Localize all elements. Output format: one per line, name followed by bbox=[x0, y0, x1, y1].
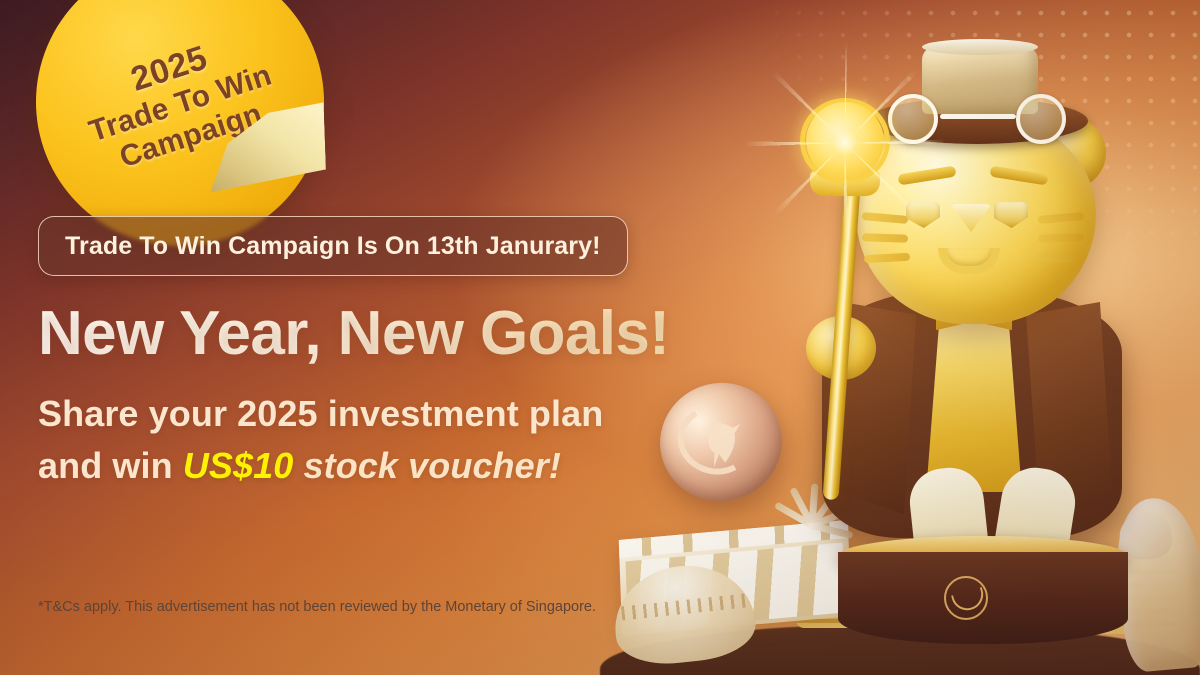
coin-stack-right-icon bbox=[1092, 548, 1178, 634]
mascot-ear-right bbox=[1028, 116, 1106, 190]
sparkle-icon bbox=[730, 28, 960, 258]
voucher-suffix: stock voucher! bbox=[293, 445, 561, 486]
mascot-whisker bbox=[1038, 212, 1085, 224]
scepter-cup bbox=[810, 170, 880, 196]
mascot-leg-right bbox=[990, 463, 1080, 581]
merlion-statue-icon bbox=[1113, 495, 1200, 673]
mascot-bow-tie-icon bbox=[936, 302, 1012, 334]
mascot-whisker bbox=[862, 212, 909, 224]
mascot-nose bbox=[950, 204, 992, 232]
mascot-head bbox=[856, 112, 1096, 324]
top-hat-brim-icon bbox=[866, 98, 1088, 144]
mascot-coat-lapel-left bbox=[830, 302, 916, 514]
voucher-amount: US$10 bbox=[183, 445, 294, 486]
mascot-coat bbox=[822, 288, 1122, 538]
mascot-coat-lapel-right bbox=[1026, 302, 1112, 514]
esplanade-landmark-icon bbox=[609, 559, 758, 669]
podium-body bbox=[838, 552, 1128, 644]
palm-tree-icon bbox=[770, 492, 862, 562]
halftone-dot-pattern-top-right bbox=[700, 0, 1200, 310]
mascot-eye-left bbox=[906, 202, 940, 228]
subheadline-line-2: and win US$10 stock voucher! bbox=[38, 440, 738, 491]
mascot-whisker bbox=[862, 233, 908, 243]
scepter-ring bbox=[800, 98, 890, 184]
disclaimer-text: *T&Cs apply. This advertisement has not … bbox=[38, 596, 608, 618]
scepter-orb bbox=[806, 102, 884, 180]
subheadline: Share your 2025 investment plan and win … bbox=[38, 388, 738, 490]
mascot-ear-left bbox=[844, 116, 922, 190]
subheadline-prefix: and win bbox=[38, 445, 183, 486]
round-glasses-icon bbox=[888, 94, 1068, 144]
mascot-whisker bbox=[864, 253, 910, 263]
mascot-whisker bbox=[1038, 233, 1084, 243]
mascot-brow-left bbox=[897, 166, 956, 186]
mascot-shirt bbox=[922, 302, 1026, 492]
halftone-dot-pattern-bottom bbox=[630, 495, 1050, 675]
podium-top bbox=[838, 536, 1128, 576]
scepter-rod bbox=[823, 170, 862, 500]
golden-tiger-mascot bbox=[770, 20, 1190, 580]
mascot-eye-right bbox=[994, 202, 1028, 228]
mascot-leg-left bbox=[907, 464, 992, 579]
headline: New Year, New Goals! bbox=[38, 302, 738, 366]
promo-banner: 2024.12.17-2024.12.17-2024.12.17-2024.12… bbox=[0, 0, 1200, 675]
subheadline-line-1: Share your 2025 investment plan bbox=[38, 388, 738, 439]
top-hat-crown-icon bbox=[922, 46, 1038, 114]
clapperboard-icon bbox=[619, 520, 851, 636]
mascot-brow-right bbox=[989, 166, 1048, 186]
podium-shadow bbox=[600, 624, 1200, 675]
mascot-arm bbox=[806, 316, 876, 380]
copy-block: Trade To Win Campaign Is On 13th Janurar… bbox=[38, 216, 738, 491]
coin-stack-left-icon bbox=[796, 558, 866, 628]
smile-coin-emblem-icon bbox=[944, 576, 988, 620]
mascot-whisker bbox=[1036, 253, 1082, 263]
mascot-mouth bbox=[938, 248, 1000, 274]
campaign-date-badge: Trade To Win Campaign Is On 13th Janurar… bbox=[38, 216, 628, 276]
